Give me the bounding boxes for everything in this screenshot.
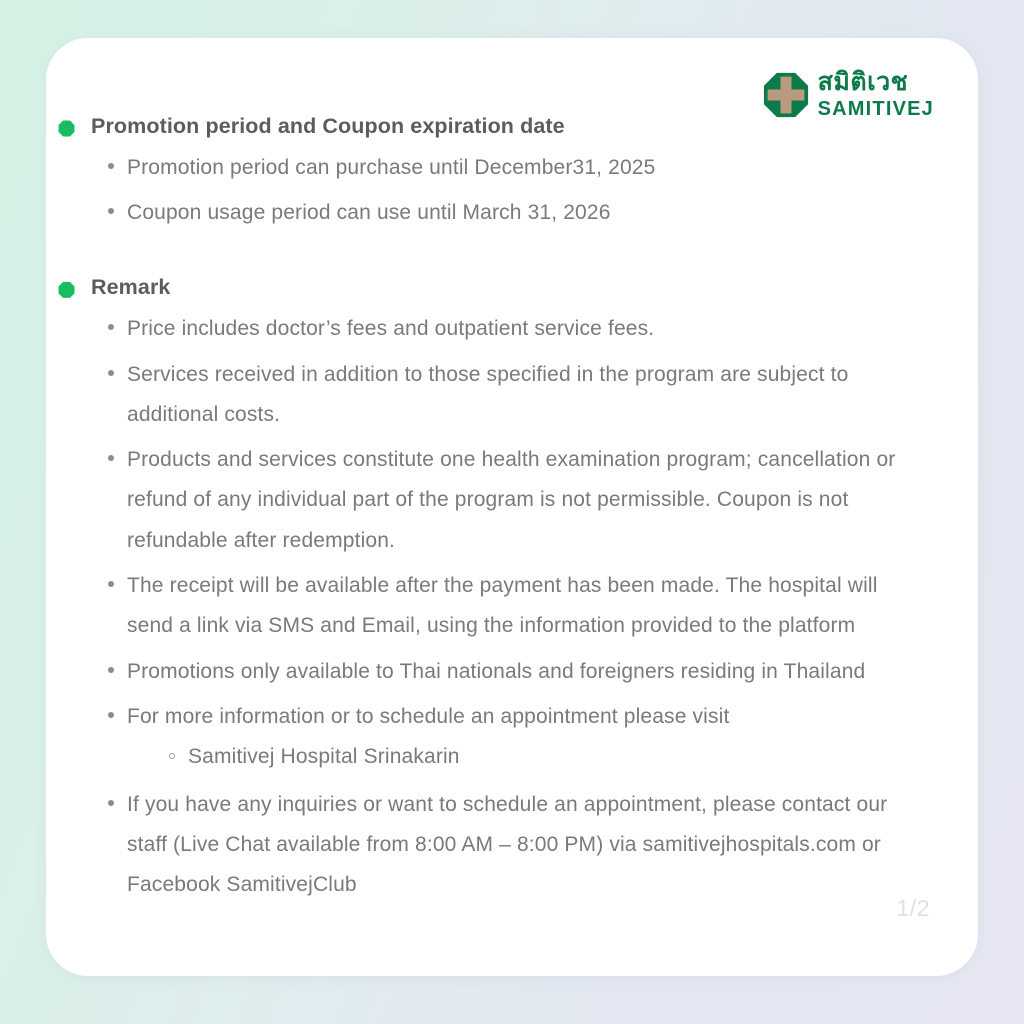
section-title: Promotion period and Coupon expiration d… — [91, 114, 565, 140]
section-remark: Remark Price includes doctor’s fees and … — [46, 275, 978, 905]
section-heading: Promotion period and Coupon expiration d… — [46, 114, 978, 140]
list-item-text: Price includes doctor’s fees and outpati… — [127, 309, 654, 349]
sub-list-item-text: Samitivej Hospital Srinakarin — [188, 737, 460, 777]
dot-bullet-icon — [108, 800, 114, 806]
hexagon-bullet-icon — [58, 120, 75, 137]
list-item: Products and services constitute one hea… — [46, 440, 978, 561]
list-item-text: Promotions only available to Thai nation… — [127, 652, 865, 692]
hexagon-bullet-icon — [58, 281, 75, 298]
dot-bullet-icon — [108, 208, 114, 214]
list-item: Services received in addition to those s… — [46, 355, 978, 436]
promotion-slide: สมิติเวช SAMITIVEJ Promotion period and … — [0, 0, 1024, 1024]
dot-bullet-icon — [108, 455, 114, 461]
dot-bullet-icon — [108, 712, 114, 718]
dot-bullet-icon — [108, 370, 114, 376]
list-item-text: For more information or to schedule an a… — [127, 705, 729, 728]
sub-list-item: Samitivej Hospital Srinakarin — [127, 737, 729, 777]
list-item: If you have any inquiries or want to sch… — [46, 785, 978, 906]
dot-bullet-icon — [108, 324, 114, 330]
list-item-text: The receipt will be available after the … — [127, 566, 927, 647]
list-item-text: Products and services constitute one hea… — [127, 440, 927, 561]
page-indicator: 1/2 — [897, 895, 930, 922]
list-item-text: If you have any inquiries or want to sch… — [127, 785, 927, 906]
dot-bullet-icon — [108, 581, 114, 587]
list-item: Promotions only available to Thai nation… — [46, 652, 978, 692]
section-title: Remark — [91, 275, 170, 301]
list-item-text: Promotion period can purchase until Dece… — [127, 148, 655, 188]
list-item: For more information or to schedule an a… — [46, 697, 978, 780]
list-item: Coupon usage period can use until March … — [46, 193, 978, 233]
sub-list: Samitivej Hospital Srinakarin — [127, 737, 729, 777]
dot-bullet-icon — [108, 163, 114, 169]
list-item-text: Services received in addition to those s… — [127, 355, 927, 436]
section-promotion-period: Promotion period and Coupon expiration d… — [46, 114, 978, 233]
dot-bullet-icon — [108, 667, 114, 673]
section-list: Price includes doctor’s fees and outpati… — [46, 309, 978, 905]
hollow-circle-bullet-icon — [169, 753, 175, 759]
list-item: The receipt will be available after the … — [46, 566, 978, 647]
section-heading: Remark — [46, 275, 978, 301]
section-list: Promotion period can purchase until Dece… — [46, 148, 978, 234]
card-content: Promotion period and Coupon expiration d… — [46, 38, 978, 911]
content-card: สมิติเวช SAMITIVEJ Promotion period and … — [46, 38, 978, 976]
list-item: Price includes doctor’s fees and outpati… — [46, 309, 978, 349]
list-item-body: For more information or to schedule an a… — [127, 697, 729, 780]
list-item: Promotion period can purchase until Dece… — [46, 148, 978, 188]
list-item-text: Coupon usage period can use until March … — [127, 193, 611, 233]
